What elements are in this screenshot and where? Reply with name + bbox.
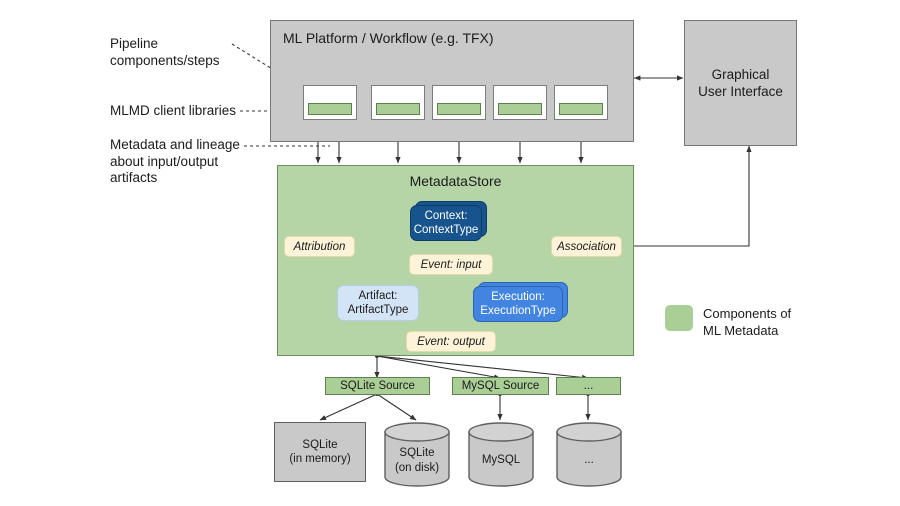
diagram-canvas: Pipeline components/steps MLMD client li…	[0, 0, 900, 506]
association-chip[interactable]: Association	[551, 236, 622, 257]
cylinder-icon	[384, 422, 450, 487]
mlmd-client-library-5[interactable]	[559, 103, 603, 115]
annotation-metadata-lineage: Metadata and lineage about input/output …	[110, 137, 250, 187]
mysql-source-box[interactable]: MySQL Source	[452, 377, 549, 395]
association-gui-link	[621, 146, 749, 246]
metadata-store-title: MetadataStore	[277, 173, 634, 189]
sqlite-source-box[interactable]: SQLite Source	[325, 377, 430, 395]
cylinder-icon	[468, 422, 534, 487]
legend-label: Components of ML Metadata	[703, 306, 833, 339]
event-output-chip[interactable]: Event: output	[406, 331, 496, 352]
sqlite-in-memory-shape[interactable]: SQLite (in memory)	[274, 422, 366, 482]
event-input-chip[interactable]: Event: input	[409, 254, 493, 275]
cylinder-icon	[556, 422, 622, 487]
other-source-box[interactable]: ...	[556, 377, 621, 395]
annotation-mlmd-client-libraries: MLMD client libraries	[110, 103, 250, 120]
annotation-pipeline-components: Pipeline components/steps	[110, 36, 240, 69]
context-node[interactable]: Context: ContextType	[410, 205, 482, 241]
execution-node[interactable]: Execution: ExecutionType	[473, 286, 563, 322]
mlmd-client-library-3[interactable]	[437, 103, 481, 115]
graphical-user-interface-box[interactable]: Graphical User Interface	[684, 20, 797, 146]
mlmd-client-library-4[interactable]	[498, 103, 542, 115]
ml-platform-title: ML Platform / Workflow (e.g. TFX)	[283, 30, 623, 47]
mlmd-client-library-1[interactable]	[308, 103, 352, 115]
artifact-node[interactable]: Artifact: ArtifactType	[337, 285, 419, 321]
sqlite-on-disk-shape[interactable]: SQLite (on disk)	[384, 422, 450, 487]
legend-swatch	[665, 305, 693, 331]
other-backend-shape[interactable]: ...	[556, 422, 622, 487]
mysql-shape[interactable]: MySQL	[468, 422, 534, 487]
attribution-chip[interactable]: Attribution	[284, 236, 355, 257]
mlmd-client-library-2[interactable]	[376, 103, 420, 115]
